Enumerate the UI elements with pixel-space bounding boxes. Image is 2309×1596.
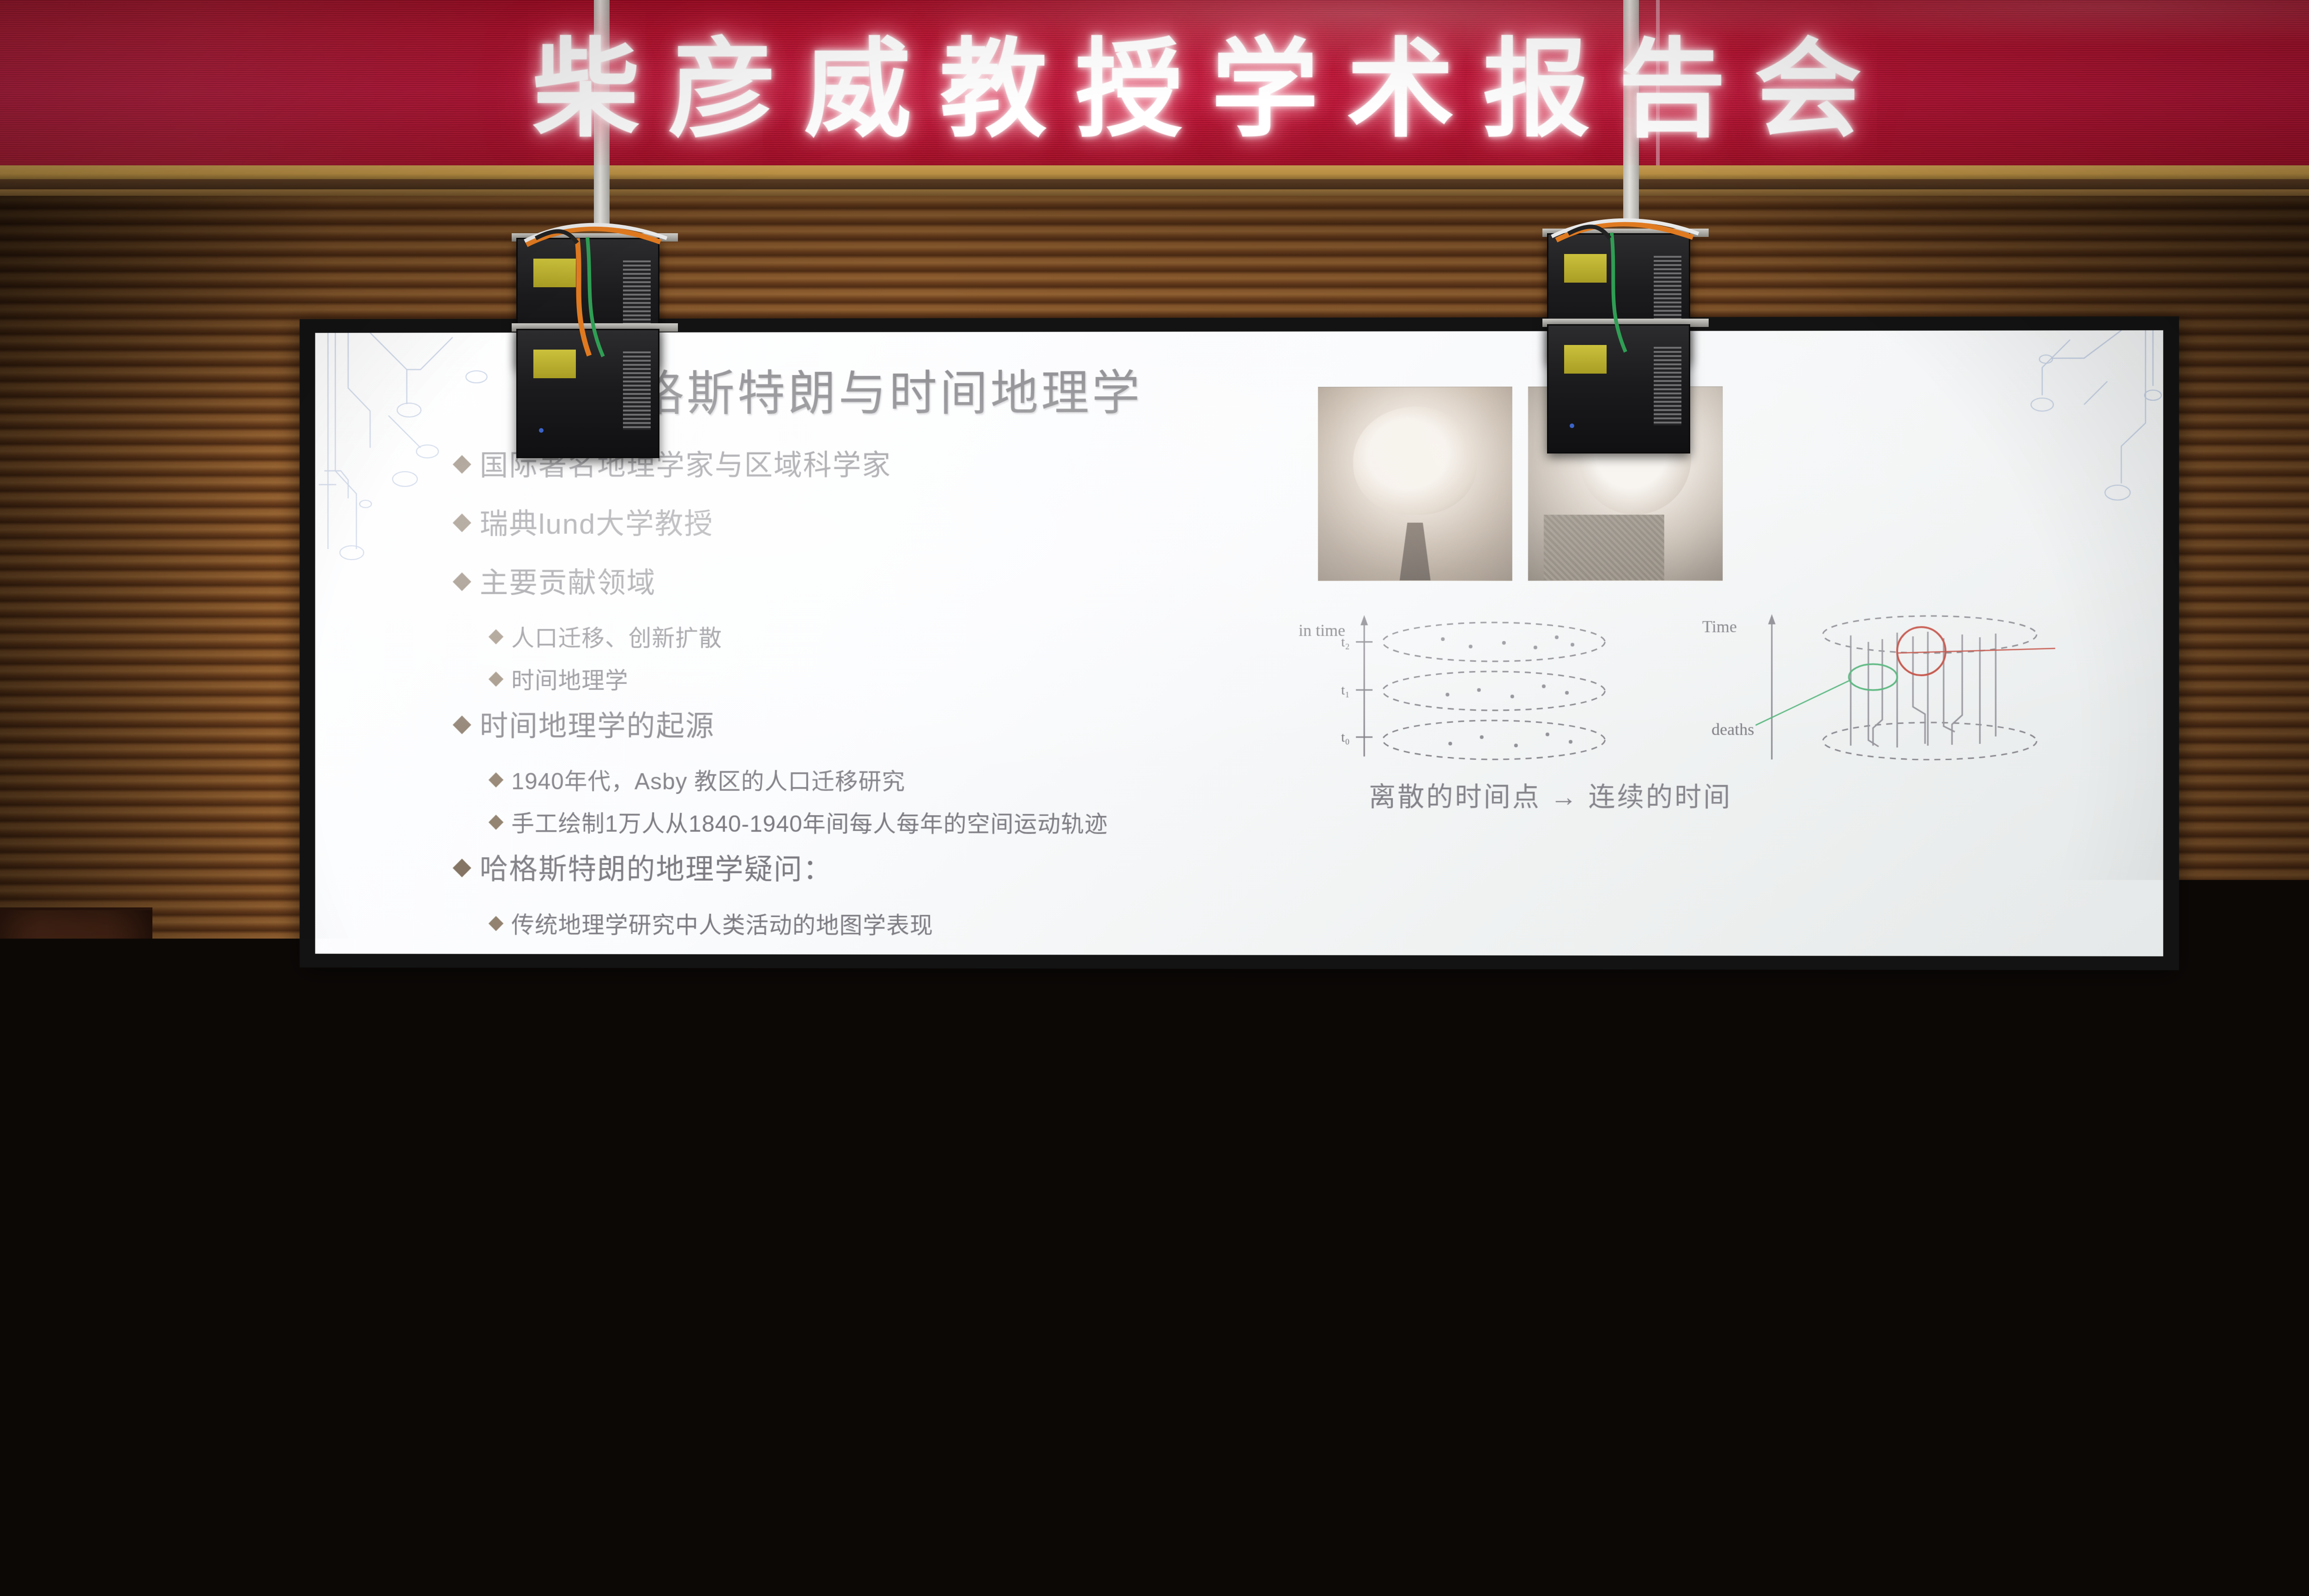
bullet-item: ◆手工绘制1万人从1840-1940年间每人每年的空间运动轨迹 (489, 809, 1244, 839)
nameplate (1464, 1432, 1487, 1464)
projector-label-icon (1564, 345, 1607, 374)
monitor-bullet: 瑞典lund大学教授 (356, 1457, 413, 1468)
door-plate-icon (2131, 1148, 2140, 1174)
door-handle-icon[interactable] (2140, 1157, 2164, 1164)
monitor-arm-right (1746, 1371, 1758, 1389)
diagram-axis-label-time: Time (1702, 617, 1737, 636)
glasses-icon (484, 1084, 532, 1094)
diagram-tick-t1: t₁ (1341, 683, 1350, 698)
monitor-bullet: 手工绘制1万人从1840-1940年间每人每 (375, 1545, 484, 1556)
monitor-arm-left (471, 1371, 483, 1389)
diamond-bullet-icon: ◆ (489, 666, 504, 691)
banner-lower-trim (0, 189, 2309, 196)
monitor-bullet: 年的空间运动轨迹 (382, 1558, 432, 1567)
audience-head (1182, 1473, 1281, 1596)
podium-institution-label: 东北师范大学 (3, 1222, 100, 1242)
desk-microphone-icon (1875, 1277, 1916, 1285)
stage-railing (129, 1275, 236, 1367)
bullet-item: ◆哈格斯特朗的地理学疑问： (453, 852, 1244, 889)
bullet-item: ◆传统地理学研究中人类活动的地图学表现 (489, 910, 1244, 941)
monitor-arm-right (1695, 1371, 1707, 1389)
projector-vent-icon (1654, 347, 1681, 425)
diamond-bullet-icon: ◆ (453, 708, 472, 739)
gooseneck-microphone-icon (1699, 1210, 1701, 1283)
monitor-slide-title: 哈格斯特朗与时间地理学 (1626, 1410, 1774, 1433)
audience-head (1515, 1512, 1600, 1596)
monitor-slide-title: 哈格斯特朗与时间地理学 (403, 1411, 550, 1433)
audience-head (961, 1492, 1055, 1596)
monitor-bullet: 国际著名地理学家与区域科学家 (1579, 1441, 1680, 1453)
audience-head (1593, 1485, 1688, 1596)
bullet-text: 手工绘制1万人从1840-1940年间每人每年的空间运动轨迹 (511, 809, 1108, 839)
monitor-portrait-thumb (1738, 1443, 1798, 1514)
monitor-bullet: 瑞典lund大学教授 (1580, 1458, 1637, 1469)
projector-led-icon (1570, 423, 1574, 428)
bullet-item: ◆时间地理学的起源 (453, 708, 1244, 745)
projector-led-icon (539, 428, 544, 433)
railing-bar (128, 1280, 222, 1345)
podium-top-surface (0, 1157, 157, 1180)
diamond-bullet-icon: ◆ (489, 623, 504, 648)
bullet-item: ◆人口迁移、创新扩散 (489, 623, 1244, 653)
bullet-text: 人口迁移研究如果不考虑个人在时空间中的背景就难以数量化与概括迁居格局 (511, 953, 1244, 956)
monitor-bullet: 人口迁移、创新扩散 (374, 1488, 430, 1499)
bullet-text: 传统地理学研究中人类活动的地图学表现 (511, 910, 933, 940)
banner-dark-trim (0, 179, 2309, 189)
bullet-text: 瑞典lund大学教授 (480, 506, 713, 543)
diagram-svg (1295, 609, 2083, 762)
bullet-text: 人口迁移、创新扩散 (511, 623, 722, 653)
slide-title: 格斯特朗与时间地理学 (636, 354, 1143, 424)
bullet-item: ◆瑞典lund大学教授 (453, 506, 1244, 543)
lecture-hall-scene: 柴彦威教授学术报告会 (0, 0, 2309, 1596)
desk-microphone-icon (1547, 1278, 1589, 1286)
monitor-bullet: 主要贡献领域 (1580, 1474, 1624, 1485)
nameplate (1497, 1432, 1520, 1464)
audience-head (1912, 1473, 2011, 1596)
audience-head (296, 1492, 388, 1596)
banner-title-text: 柴彦威教授学术报告会 (504, 2, 1890, 157)
bullet-item: ◆时间地理学 (489, 666, 1244, 695)
monitor-bullet: 主要贡献领域 (357, 1473, 399, 1484)
circuit-decoration-icon (1968, 330, 2163, 618)
audience-head (568, 1496, 658, 1596)
diagram-tick-t2: t₂ (1341, 635, 1350, 650)
time-geography-diagrams: in time t₂ t₁ t₀ Time deaths (1295, 609, 2083, 762)
bullet-text: 时间地理学 (511, 666, 628, 695)
audience-head (2027, 1503, 2117, 1596)
audience-head (1709, 1508, 1796, 1596)
bullet-item: ◆1940年代，Asby 教区的人口迁移研究 (489, 767, 1244, 797)
speaker-person (446, 1060, 570, 1378)
monitor-arm-left (522, 1371, 534, 1389)
bullet-text: 时间地理学的起源 (480, 708, 715, 745)
speaker-legs (470, 1258, 547, 1379)
audience-head (1307, 1505, 1395, 1596)
projector-label-icon (533, 350, 576, 378)
slide-bullet-list: ◆国际著名地理学家与区域科学家 ◆瑞典lund大学教授 ◆主要贡献领域 ◆人口迁… (453, 447, 1244, 956)
portrait-photo-young (1318, 387, 1512, 581)
bullet-item: ◆人口迁移研究如果不考虑个人在时空间中的背景就难以数量化与概括迁居格局 (489, 953, 1244, 956)
railing-bar (128, 1307, 222, 1373)
bullet-text: 1940年代，Asby 教区的人口迁移研究 (511, 767, 905, 797)
monitor-bullet: 1940年代，Asby 教区的人口迁移研究 (375, 1531, 480, 1542)
wristwatch-icon (548, 1192, 564, 1197)
monitor-bullet: 时间地理学 (374, 1503, 405, 1512)
bullet-text: 哈格斯特朗的地理学疑问： (480, 852, 833, 889)
projector-label-icon (1564, 254, 1607, 283)
diamond-bullet-icon: ◆ (453, 852, 472, 882)
head-table-chair-left (1307, 1176, 1441, 1291)
ceiling-projector-right-lower (1547, 324, 1690, 453)
projector-label-icon (533, 259, 576, 287)
diamond-bullet-icon: ◆ (489, 809, 504, 834)
audience-head (743, 1496, 836, 1596)
diagram-axis-label-in-time: in time (1299, 621, 1345, 640)
bullet-text: 主要贡献领域 (480, 565, 656, 601)
ceiling-projector-left-lower (516, 329, 659, 458)
audience-head (1404, 1492, 1496, 1596)
led-banner: 柴彦威教授学术报告会 (0, 0, 2309, 165)
audience-head (1806, 1492, 1898, 1596)
audience-head (490, 1510, 575, 1596)
diamond-bullet-icon: ◆ (489, 953, 504, 956)
slide-caption: 离散的时间点 → 连续的时间 (1369, 775, 1732, 814)
bullet-item: ◆主要贡献领域 (453, 565, 1244, 602)
diamond-bullet-icon: ◆ (489, 767, 504, 792)
diagram-tick-t0: t₀ (1341, 730, 1350, 745)
university-seal-icon (5, 1288, 79, 1362)
podium-display-panel (5, 1182, 92, 1208)
monitor-portrait-thumb (515, 1444, 574, 1514)
diamond-bullet-icon: ◆ (453, 565, 472, 595)
projector-vent-icon (623, 351, 651, 430)
diamond-bullet-icon: ◆ (489, 910, 504, 935)
banner-gold-trim (0, 165, 2309, 179)
diamond-bullet-icon: ◆ (453, 506, 472, 537)
diagram-annotation-deaths: deaths (1711, 719, 1754, 739)
diamond-bullet-icon: ◆ (453, 447, 472, 478)
audience-head (2124, 1492, 2219, 1596)
gooseneck-microphone-icon (1412, 1208, 1414, 1282)
head-table-chair-right (1593, 1177, 1727, 1292)
monitor-bullet: 国际著名地理学家与区域科学家 (356, 1441, 456, 1453)
